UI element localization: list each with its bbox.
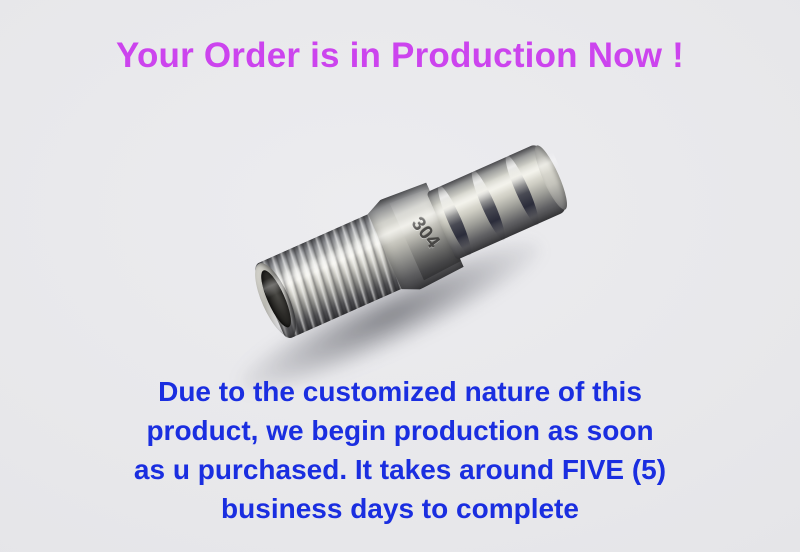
product-photo: 304 <box>215 145 595 375</box>
promo-image-canvas: Your Order is in Production Now ! 304 Du… <box>0 0 800 552</box>
notice-line: business days to complete <box>0 489 800 528</box>
notice-line: Due to the customized nature of this <box>0 372 800 411</box>
page-title: Your Order is in Production Now ! <box>0 36 800 76</box>
notice-line: product, we begin production as soon <box>0 411 800 450</box>
notice-line: as u purchased. It takes around FIVE (5) <box>0 450 800 489</box>
production-notice: Due to the customized nature of this pro… <box>0 372 800 528</box>
